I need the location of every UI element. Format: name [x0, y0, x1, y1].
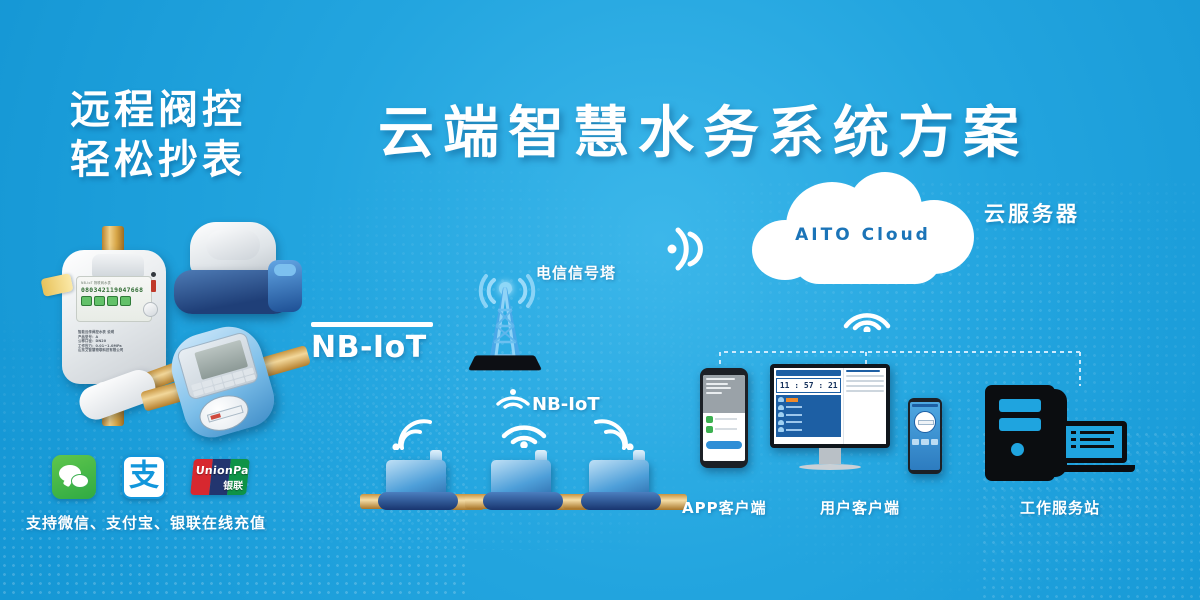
- field-meter-wifi-icon-2: [500, 414, 548, 448]
- field-meter-wifi-icon-1: [388, 418, 434, 450]
- meter-led: [81, 296, 92, 306]
- phone2-meter-dial: [914, 411, 936, 433]
- phone2-keypad[interactable]: [912, 439, 938, 445]
- meter-button[interactable]: [143, 302, 158, 317]
- alipay-glyph: 支: [124, 461, 164, 491]
- nbiot-secondary-label: NB-IoT: [532, 394, 600, 415]
- list-item: [706, 416, 742, 423]
- headline-line-2: 轻松抄表: [70, 135, 370, 185]
- left-headline: 远程阀控 轻松抄表: [70, 85, 370, 185]
- work-station-icons: [985, 385, 1135, 485]
- valve-meter-cap: [190, 222, 276, 276]
- payment-caption: 支持微信、支付宝、银联在线充值: [26, 512, 266, 533]
- dashboard-menu[interactable]: [776, 395, 841, 437]
- meter-body: [164, 319, 281, 444]
- laptop-icon: [1061, 421, 1135, 479]
- unionpay-icon[interactable]: UnionPay 银联: [190, 459, 250, 495]
- phone-primary-button[interactable]: [706, 441, 742, 449]
- meter-led: [120, 296, 131, 306]
- tower-label: 电信信号塔: [536, 262, 616, 283]
- monitor-base: [799, 464, 861, 470]
- phone-app-list: [703, 413, 745, 439]
- meter-led: [107, 296, 118, 306]
- menu-item: [778, 427, 839, 432]
- phone-screen: [703, 375, 745, 461]
- dashboard-titlebar: [776, 370, 841, 376]
- field-nbiot-meter-3: [575, 452, 671, 522]
- work-station-label: 工作服务站: [1020, 497, 1100, 518]
- nbiot-underline-bar: [311, 322, 433, 327]
- meter-led-row: [81, 296, 147, 306]
- menu-item: [778, 420, 839, 425]
- meter-display-header: NB-IoT 物联网水表: [81, 281, 147, 285]
- unionpay-label-cn: 银联: [222, 477, 244, 492]
- cloud-shape: AITO Cloud: [752, 172, 974, 284]
- uplink-signal-icon: [660, 222, 720, 278]
- meter-display: NB-IoT 物联网水表 080342119047668: [76, 276, 152, 322]
- cloud-name-label: AITO Cloud: [752, 172, 974, 284]
- phone2-titlebar: [912, 404, 938, 407]
- field-nbiot-meter-1: [372, 452, 468, 522]
- meter-led: [94, 296, 105, 306]
- secondary-client-phone[interactable]: [908, 398, 942, 474]
- menu-item: [778, 412, 839, 417]
- meter-indicator-strip: [151, 280, 156, 292]
- alipay-icon[interactable]: 支: [122, 455, 166, 499]
- cloud-downlink-signal-icon: [840, 296, 894, 332]
- product-meters-group: NB-IoT 物联网水表 080342119047668 智能远传阀控水表 说明…: [40, 222, 330, 442]
- wechat-pay-icon[interactable]: [52, 455, 96, 499]
- meter-sensor-dot: [151, 272, 156, 277]
- monitor-stand: [819, 448, 841, 464]
- menu-item: [778, 405, 839, 410]
- phone2-screen: [910, 402, 940, 470]
- nbiot-downlink-icon: [494, 386, 532, 414]
- nbiot-primary-label: NB-IoT: [311, 330, 427, 365]
- meter-faceplate: [176, 331, 260, 401]
- phone-app-header: [703, 375, 745, 413]
- app-client-phone[interactable]: [700, 368, 748, 468]
- user-client-label: 用户客户端: [820, 497, 900, 518]
- cloud-server-label: 云服务器: [984, 198, 1080, 228]
- user-client-monitor: 11 : 57 : 21: [770, 364, 890, 472]
- dashboard-left-pane: 11 : 57 : 21: [774, 368, 843, 444]
- server-tower-icon: [985, 385, 1055, 481]
- monitor-screen: 11 : 57 : 21: [774, 368, 886, 444]
- dashboard-right-pane: [843, 368, 886, 444]
- monitor-frame: 11 : 57 : 21: [770, 364, 890, 448]
- menu-item: [778, 397, 839, 402]
- poster-canvas: 远程阀控 轻松抄表 云端智慧水务系统方案 NB-IoT 物联网水表 080342…: [0, 0, 1200, 600]
- list-item: [706, 426, 742, 433]
- dashboard-clock: 11 : 57 : 21: [776, 378, 841, 393]
- meter-serial-number: 080342119047668: [81, 286, 147, 294]
- meter-cap: [92, 254, 144, 278]
- app-client-label: APP客户端: [682, 497, 767, 518]
- unionpay-label-en: UnionPay: [195, 464, 250, 477]
- field-nbiot-meter-2: [477, 452, 573, 522]
- headline-line-1: 远程阀控: [70, 85, 370, 135]
- field-meter-wifi-icon-3: [592, 418, 638, 450]
- page-title: 云端智慧水务系统方案: [378, 88, 1028, 169]
- payment-icons-row: 支 UnionPay 银联: [52, 455, 248, 499]
